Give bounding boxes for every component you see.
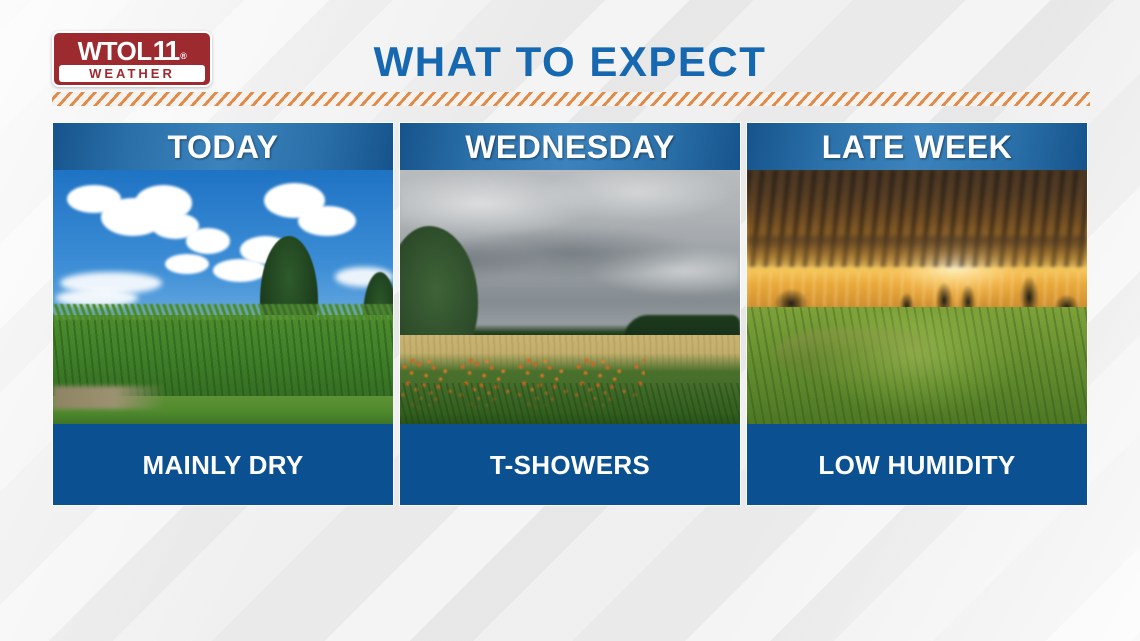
weather-graphic: WTOL 11 ® WEATHER WHAT TO EXPECT TODAY [0,0,1140,641]
panel-caption-label: MAINLY DRY [143,452,304,478]
cloud-shape [186,228,230,253]
panel-header-wednesday: WEDNESDAY [400,123,740,170]
forecast-panel-today[interactable]: TODAY [53,123,393,505]
panel-photo-today [53,170,393,424]
cloud-band [747,236,1087,266]
field-sunlight [815,312,1019,414]
foreground-grass [400,383,740,424]
panel-header-label: WEDNESDAY [465,131,675,163]
panel-header-late-week: LATE WEEK [747,123,1087,170]
panel-caption-today: MAINLY DRY [53,424,393,505]
panel-photo-late-week [747,170,1087,424]
panel-caption-label: LOW HUMIDITY [818,452,1015,478]
forecast-panel-late-week[interactable]: LATE WEEK LOW HUMIDITY [747,123,1087,505]
page-title: WHAT TO EXPECT [0,41,1140,83]
forecast-panel-row: TODAY [53,123,1087,505]
forecast-panel-wednesday[interactable]: WEDNESDAY T-SHOWERS [400,123,740,505]
corn-canopy-edge [53,304,393,320]
panel-header-label: TODAY [168,131,279,163]
panel-header-label: LATE WEEK [822,131,1013,163]
panel-photo-wednesday [400,170,740,424]
dirt-path [53,386,165,409]
cloud-shape [298,206,356,236]
panel-caption-label: T-SHOWERS [490,452,650,478]
panel-caption-wednesday: T-SHOWERS [400,424,740,505]
hatched-divider [52,92,1090,106]
panel-header-today: TODAY [53,123,393,170]
panel-caption-late-week: LOW HUMIDITY [747,424,1087,505]
